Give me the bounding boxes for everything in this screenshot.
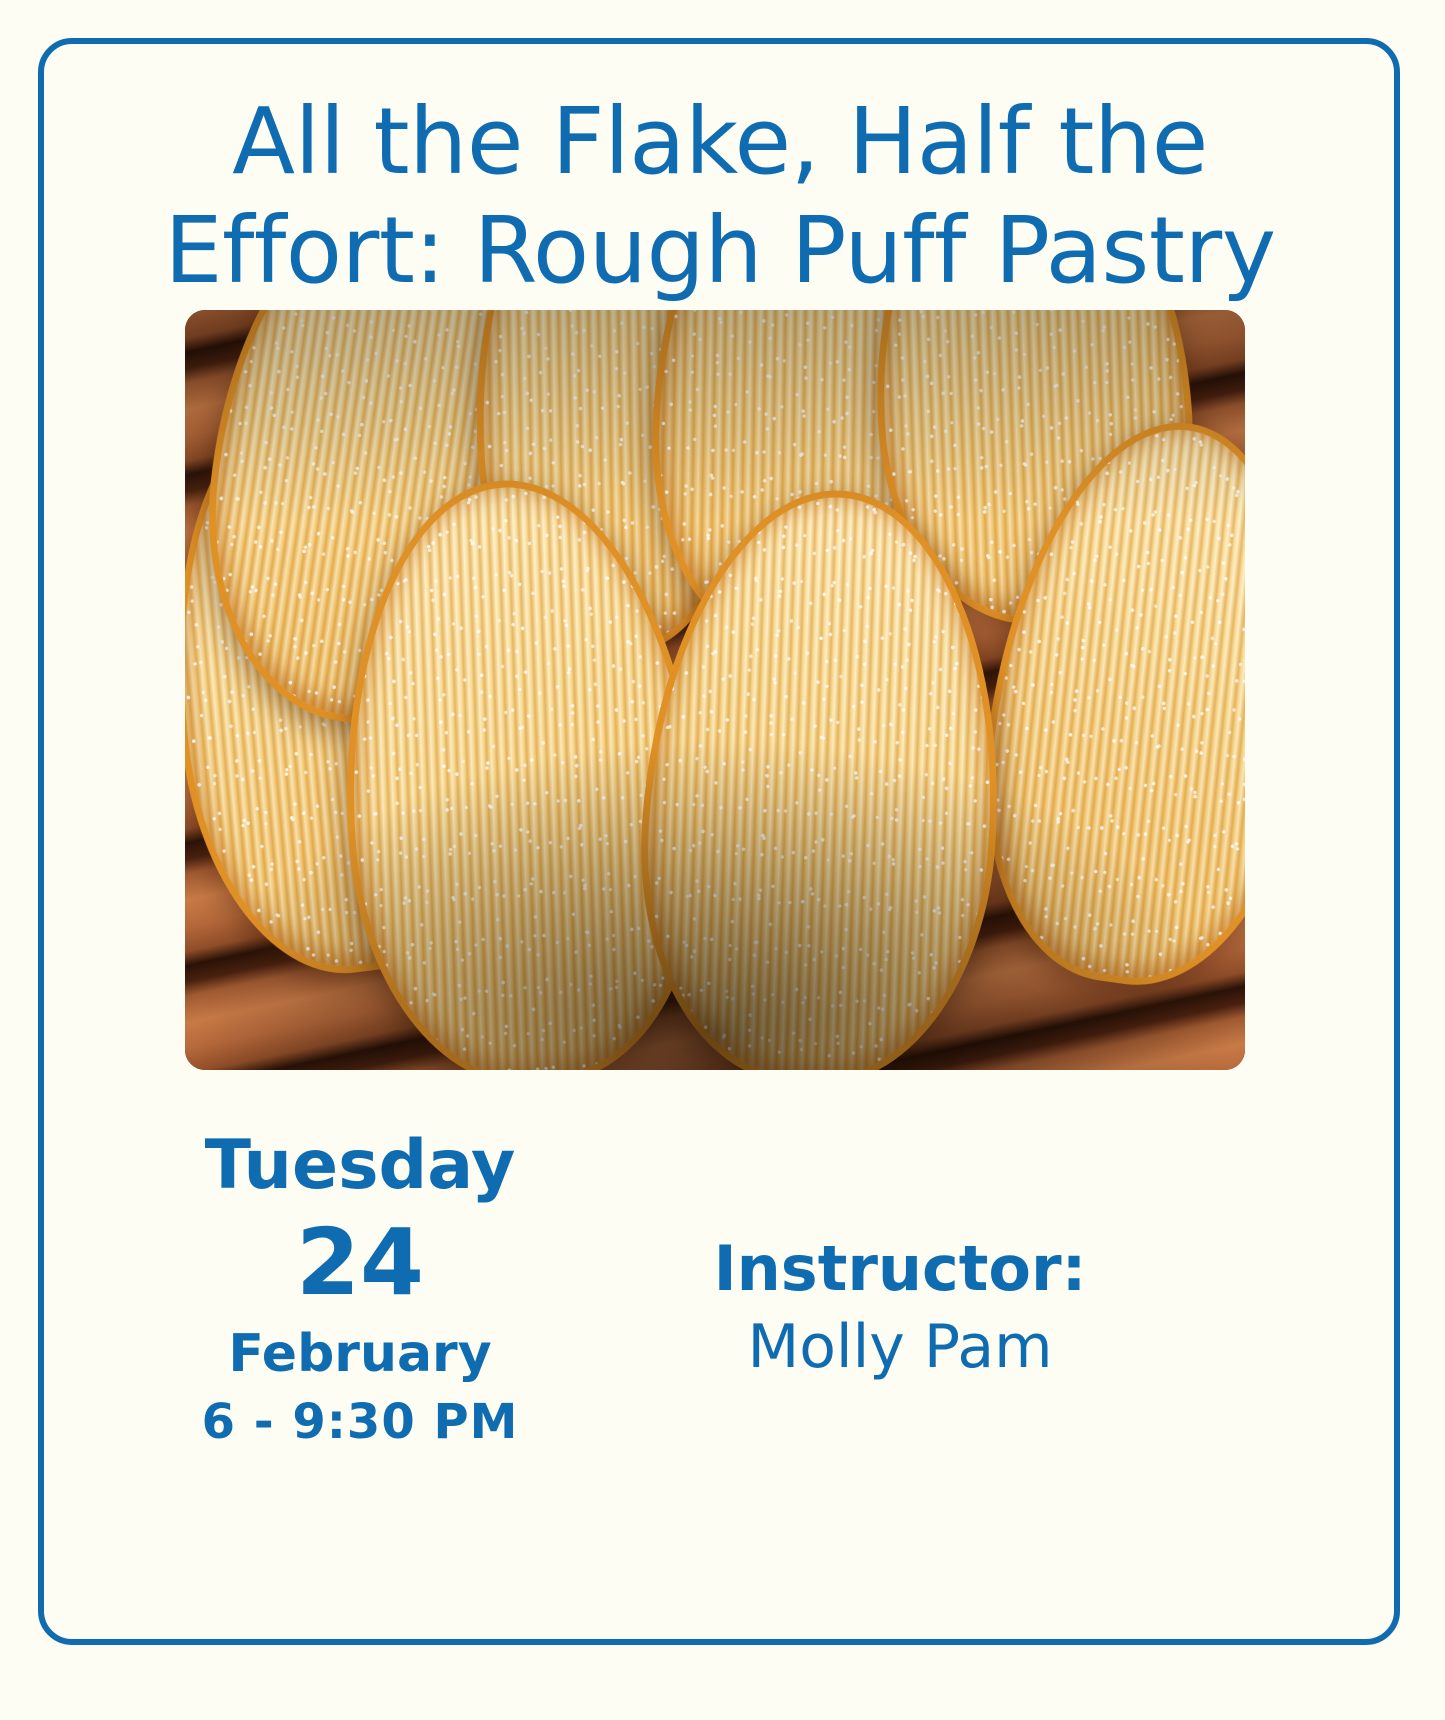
date-time-range: 6 - 9:30 PM [110, 1386, 610, 1458]
instructor-block: Instructor: Molly Pam [620, 1232, 1180, 1389]
instructor-name: Molly Pam [620, 1305, 1180, 1389]
instructor-label: Instructor: [620, 1232, 1180, 1305]
date-weekday: Tuesday [110, 1128, 610, 1204]
date-day-number: 24 [110, 1204, 610, 1322]
class-poster: All the Flake, Half the Effort: Rough Pu… [0, 0, 1445, 1720]
pastry-photo [185, 310, 1245, 1070]
photo-vignette [185, 310, 1245, 1070]
class-date-block: Tuesday 24 February 6 - 9:30 PM [110, 1128, 610, 1458]
date-month: February [110, 1322, 610, 1386]
page-title: All the Flake, Half the Effort: Rough Pu… [80, 88, 1360, 305]
